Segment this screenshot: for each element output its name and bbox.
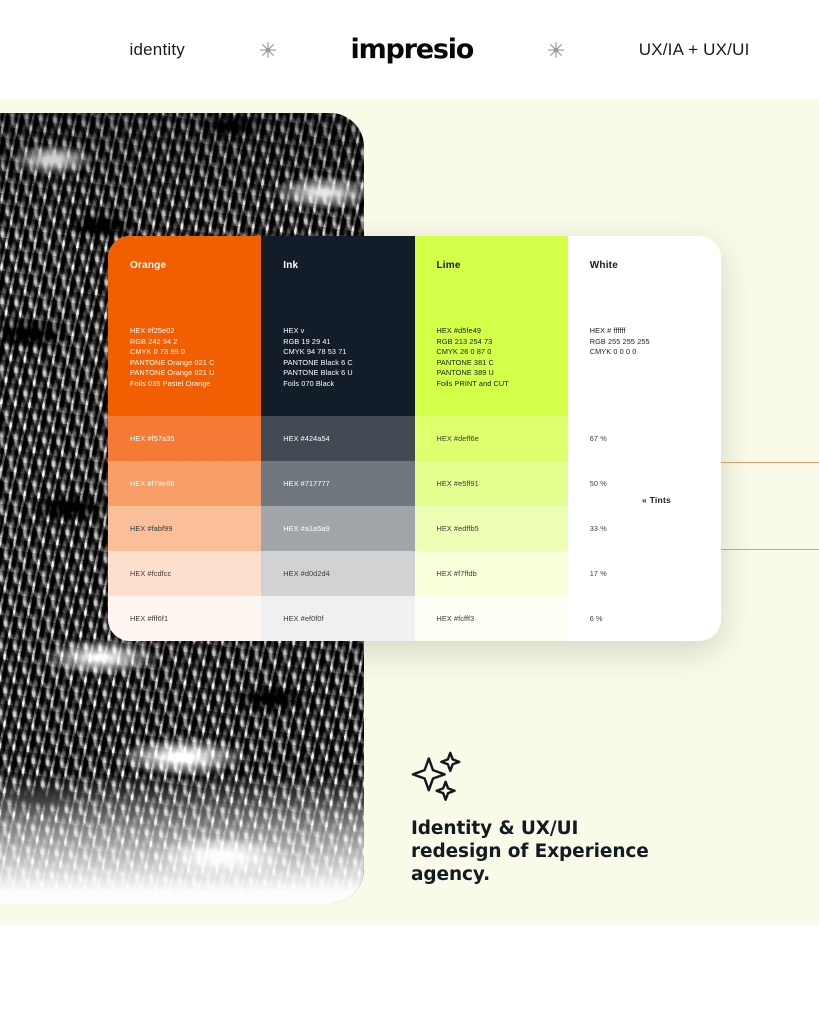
palette-column-orange: OrangeHEX #f25e02RGB 242 94 2CMYK 0 73 9… bbox=[108, 236, 261, 641]
spec-line: HEX # ffffff bbox=[590, 326, 650, 337]
spec-line: CMYK 0 0 0 0 bbox=[590, 347, 650, 358]
palette-column-title: Lime bbox=[437, 260, 546, 271]
tint-row: HEX #f7ffdb bbox=[415, 551, 568, 596]
palette-column-title: White bbox=[590, 260, 699, 271]
tint-row: HEX #deff6e bbox=[415, 416, 568, 461]
palette-specs: HEX # ffffffRGB 255 255 255CMYK 0 0 0 0 bbox=[590, 326, 650, 358]
spec-line: HEX #f25e02 bbox=[130, 326, 214, 337]
header-right-label: UX/IA + UX/UI bbox=[639, 40, 750, 60]
palette-column-lime: LimeHEX #d5fe49RGB 213 254 73CMYK 26 0 8… bbox=[415, 236, 568, 641]
photo-top-shade bbox=[0, 113, 364, 233]
asterisk-star-icon bbox=[259, 41, 277, 59]
tint-row: 17 % bbox=[568, 551, 721, 596]
page-footer: adjusthink bbox=[0, 925, 819, 1024]
palette-swatch-ink: InkHEX vRGB 19 29 41CMYK 94 78 53 71PANT… bbox=[261, 236, 414, 416]
palette-column-white: WhiteHEX # ffffffRGB 255 255 255CMYK 0 0… bbox=[568, 236, 721, 641]
spec-line: CMYK 26 0 87 0 bbox=[437, 347, 509, 358]
header-left-label: identity bbox=[130, 40, 185, 60]
spec-line: Foils 070 Black bbox=[283, 379, 353, 390]
caption-block: Identity & UX/UI redesign of Experience … bbox=[411, 751, 671, 886]
tint-row: HEX #fcfff3 bbox=[415, 596, 568, 641]
palette-swatch-lime: LimeHEX #d5fe49RGB 213 254 73CMYK 26 0 8… bbox=[415, 236, 568, 416]
tint-row: HEX #fcdfcc bbox=[108, 551, 261, 596]
spec-line: PANTONE Black 6 U bbox=[283, 368, 353, 379]
spec-line: RGB 19 29 41 bbox=[283, 337, 353, 348]
brand-logo: impresio bbox=[351, 34, 474, 65]
spec-line: Foils PRINT and CUT bbox=[437, 379, 509, 390]
tint-row: HEX #a1a5a9 bbox=[261, 506, 414, 551]
tint-row: HEX #edffb5 bbox=[415, 506, 568, 551]
palette-swatch-orange: OrangeHEX #f25e02RGB 242 94 2CMYK 0 73 9… bbox=[108, 236, 261, 416]
sparkles-icon bbox=[411, 751, 469, 807]
spec-line: RGB 255 255 255 bbox=[590, 337, 650, 348]
palette-column-title: Orange bbox=[130, 260, 239, 271]
page-header: identity impresio UX/IA + UX/UI bbox=[0, 0, 819, 99]
palette-column-ink: InkHEX vRGB 19 29 41CMYK 94 78 53 71PANT… bbox=[261, 236, 414, 641]
tint-row: 33 % bbox=[568, 506, 721, 551]
tints-label: « Tints bbox=[642, 495, 671, 505]
spec-line: RGB 213 254 73 bbox=[437, 337, 509, 348]
tint-row: 6 % bbox=[568, 596, 721, 641]
palette-specs: HEX #d5fe49RGB 213 254 73CMYK 26 0 87 0P… bbox=[437, 326, 509, 390]
spec-line: HEX v bbox=[283, 326, 353, 337]
asterisk-star-icon-2 bbox=[547, 41, 565, 59]
spec-line: Foils 035 Pastel Orange bbox=[130, 379, 214, 390]
spec-line: HEX #d5fe49 bbox=[437, 326, 509, 337]
tint-row: HEX #fabf99 bbox=[108, 506, 261, 551]
spec-line: PANTONE 381 C bbox=[437, 358, 509, 369]
tint-row: HEX #f79e66 bbox=[108, 461, 261, 506]
tint-row: HEX #ef0f0f bbox=[261, 596, 414, 641]
tint-row: HEX #f57a35 bbox=[108, 416, 261, 461]
photo-bottom-fade bbox=[0, 773, 364, 903]
spec-line: CMYK 0 73 99 0 bbox=[130, 347, 214, 358]
spec-line: PANTONE 389 U bbox=[437, 368, 509, 379]
tint-row: HEX #424a54 bbox=[261, 416, 414, 461]
tint-row: HEX #e5ff91 bbox=[415, 461, 568, 506]
palette-specs: HEX #f25e02RGB 242 94 2CMYK 0 73 99 0PAN… bbox=[130, 326, 214, 390]
spec-line: PANTONE Orange 021 U bbox=[130, 368, 214, 379]
color-palette-card: OrangeHEX #f25e02RGB 242 94 2CMYK 0 73 9… bbox=[108, 236, 721, 641]
tint-row: HEX #d0d2d4 bbox=[261, 551, 414, 596]
tint-row: HEX #717777 bbox=[261, 461, 414, 506]
slide-page: identity impresio UX/IA + UX/UI bbox=[0, 0, 819, 1024]
tint-row: HEX #fff6f1 bbox=[108, 596, 261, 641]
spec-line: CMYK 94 78 53 71 bbox=[283, 347, 353, 358]
palette-column-title: Ink bbox=[283, 260, 392, 271]
tint-row: 67 % bbox=[568, 416, 721, 461]
palette-specs: HEX vRGB 19 29 41CMYK 94 78 53 71PANTONE… bbox=[283, 326, 353, 390]
orange-rule-bottom bbox=[721, 549, 819, 550]
palette-columns: OrangeHEX #f25e02RGB 242 94 2CMYK 0 73 9… bbox=[108, 236, 721, 641]
header-inner: identity impresio UX/IA + UX/UI bbox=[70, 34, 750, 65]
orange-rule-top bbox=[721, 462, 819, 463]
palette-swatch-white: WhiteHEX # ffffffRGB 255 255 255CMYK 0 0… bbox=[568, 236, 721, 416]
spec-line: RGB 242 94 2 bbox=[130, 337, 214, 348]
spec-line: PANTONE Orange 021 C bbox=[130, 358, 214, 369]
spec-line: PANTONE Black 6 C bbox=[283, 358, 353, 369]
caption-text: Identity & UX/UI redesign of Experience … bbox=[411, 817, 671, 886]
